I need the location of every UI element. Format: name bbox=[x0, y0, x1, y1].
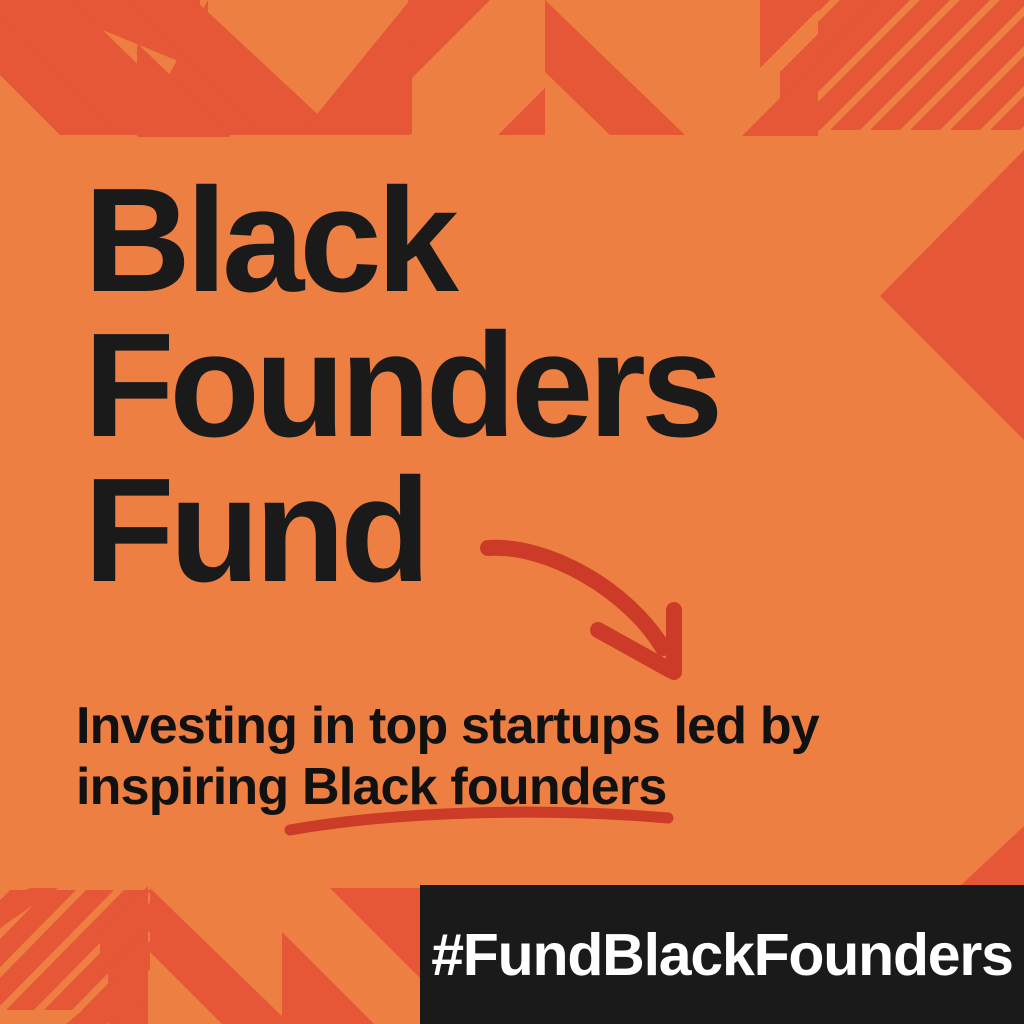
headline-line-3: Fund bbox=[84, 458, 884, 603]
headline-line-1: Black bbox=[84, 168, 884, 313]
subtitle: Investing in top startups led by inspiri… bbox=[76, 696, 896, 819]
poster-canvas: Black Founders Fund Investing in top sta… bbox=[0, 0, 1024, 1024]
subtitle-line-2: inspiring Black founders bbox=[76, 757, 896, 818]
subtitle-line-1: Investing in top startups led by bbox=[76, 696, 896, 757]
page-title: Black Founders Fund bbox=[84, 168, 884, 603]
hashtag-label: #FundBlackFounders bbox=[431, 921, 1013, 989]
headline-line-2: Founders bbox=[84, 313, 884, 458]
hashtag-banner: #FundBlackFounders bbox=[420, 885, 1024, 1024]
